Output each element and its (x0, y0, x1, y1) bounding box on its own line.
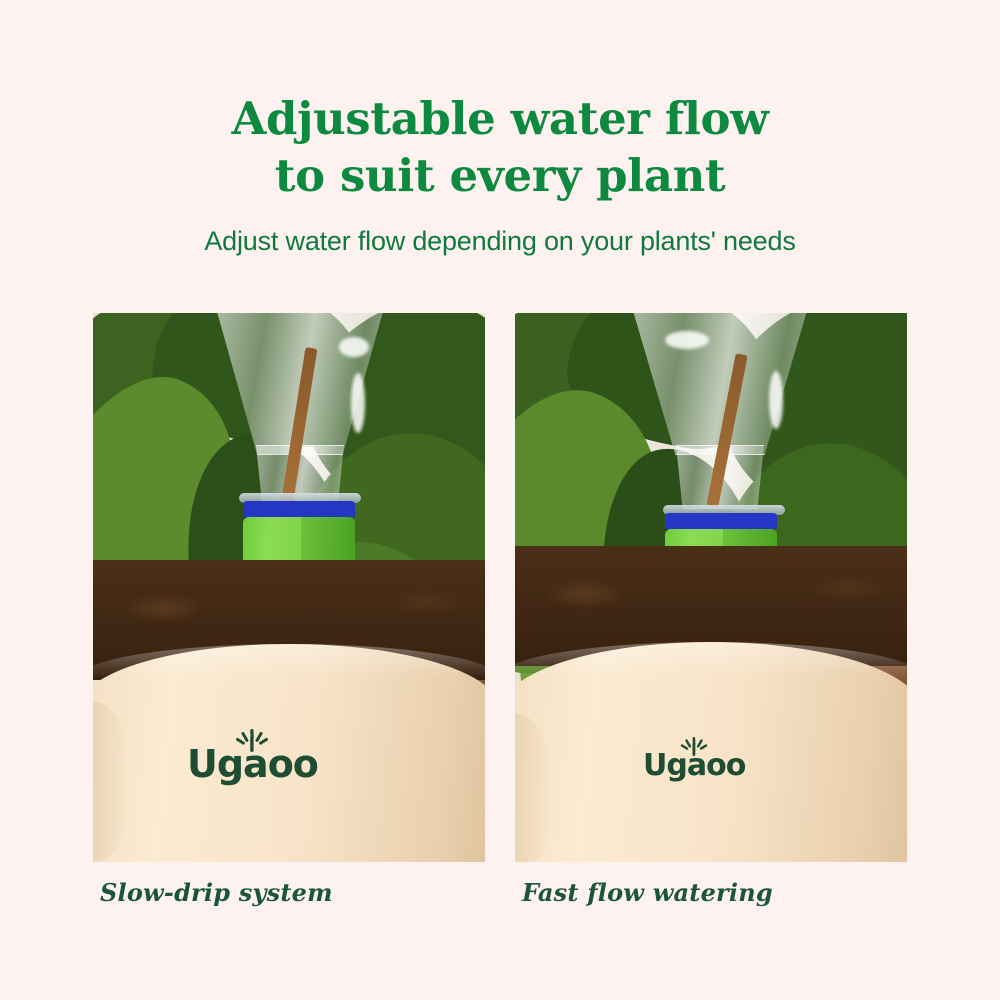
comparison-panels: Ugaoo Slow-drip system (93, 313, 907, 862)
ugaoo-wordmark: Ugaoo (643, 751, 745, 781)
ugaoo-logo: Ugaoo (643, 736, 745, 781)
product-photo-slow-drip: Ugaoo (93, 313, 485, 862)
caption-slow-drip: Slow-drip system (100, 878, 333, 907)
pot-shading (93, 702, 131, 862)
bottle-highlight (769, 371, 783, 429)
caption-fast-flow: Fast flow watering (522, 878, 773, 907)
bottle-highlight (339, 337, 369, 357)
plant-pot: Ugaoo (515, 642, 907, 862)
ugaoo-logo: Ugaoo (187, 728, 318, 783)
device-blue-collar (665, 513, 777, 530)
bottle-highlight (665, 331, 709, 349)
bottle-highlight (351, 373, 365, 433)
ugaoo-wordmark: Ugaoo (187, 745, 318, 783)
pot-shading (515, 714, 553, 862)
headline-line-2: to suit every plant (0, 147, 1000, 204)
panel-slow-drip: Ugaoo Slow-drip system (93, 313, 485, 862)
page-subtitle: Adjust water flow depending on your plan… (0, 224, 1000, 258)
header-block: Adjustable water flow to suit every plan… (0, 0, 1000, 258)
device-blue-collar (243, 501, 355, 518)
product-photo-fast-flow: Ugaoo (515, 313, 907, 862)
panel-fast-flow: Ugaoo Fast flow watering (515, 313, 907, 862)
plant-pot: Ugaoo (93, 644, 485, 862)
headline-line-1: Adjustable water flow (0, 90, 1000, 147)
page-title: Adjustable water flow to suit every plan… (0, 90, 1000, 204)
